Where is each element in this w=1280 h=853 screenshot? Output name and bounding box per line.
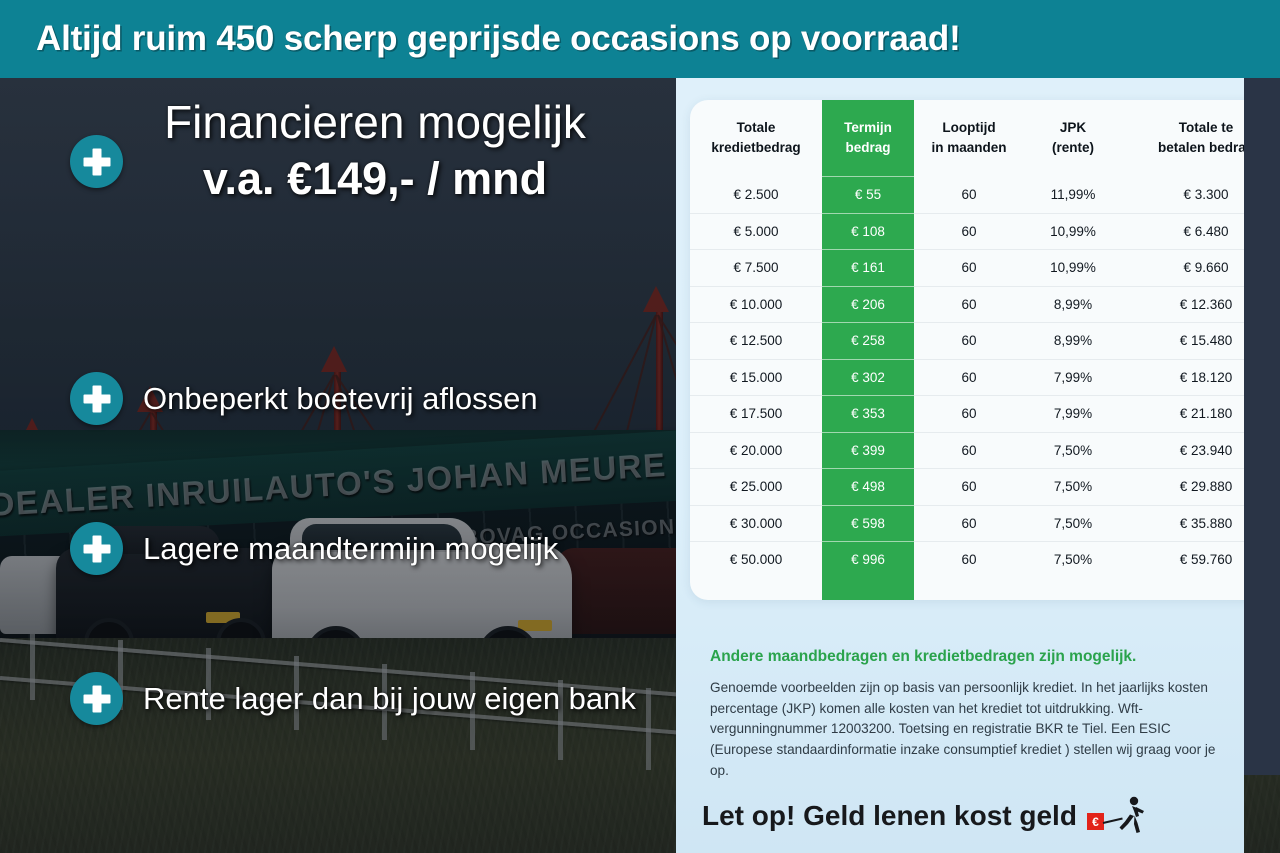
credit-warning-text: Let op! Geld lenen kost geld (702, 800, 1077, 832)
table-row: € 12.500€ 258608,99%€ 15.480 (690, 323, 1244, 360)
cell-looptijd: 60 (914, 432, 1024, 469)
finance-info-panel: Totale kredietbedrag Termijn bedrag Loop… (676, 78, 1244, 853)
top-banner: Altijd ruim 450 scherp geprijsde occasio… (0, 0, 1280, 78)
cell-looptijd: 60 (914, 469, 1024, 506)
cell-krediet: € 7.500 (690, 250, 822, 287)
cell-termijn: € 353 (822, 396, 914, 433)
finance-table-card: Totale kredietbedrag Termijn bedrag Loop… (690, 100, 1244, 600)
cell-termijn: € 206 (822, 286, 914, 323)
afm-money-warning-logo: € (1087, 796, 1145, 836)
cell-looptijd: 60 (914, 505, 1024, 542)
cell-totaal: € 6.480 (1122, 213, 1244, 250)
cell-termijn: € 399 (822, 432, 914, 469)
column-header-line2: in maanden (914, 138, 1024, 158)
cell-termijn: € 108 (822, 213, 914, 250)
cell-jkp: 8,99% (1024, 323, 1122, 360)
finance-table: Totale kredietbedrag Termijn bedrag Loop… (690, 100, 1244, 578)
cell-looptijd: 60 (914, 396, 1024, 433)
cell-krediet: € 2.500 (690, 177, 822, 214)
top-banner-text: Altijd ruim 450 scherp geprijsde occasio… (36, 19, 961, 59)
table-row: € 15.000€ 302607,99%€ 18.120 (690, 359, 1244, 396)
promo-content: Financieren mogelijk v.a. €149,- / mnd O… (0, 78, 690, 853)
cell-looptijd: 60 (914, 213, 1024, 250)
cell-jkp: 7,50% (1024, 505, 1122, 542)
cell-termijn: € 598 (822, 505, 914, 542)
column-header-line1: Termijn (822, 118, 914, 138)
disclaimer-heading: Andere maandbedragen en kredietbedragen … (710, 648, 1230, 666)
cell-krediet: € 25.000 (690, 469, 822, 506)
cell-totaal: € 15.480 (1122, 323, 1244, 360)
headline-block: Financieren mogelijk v.a. €149,- / mnd (0, 96, 690, 206)
cell-totaal: € 23.940 (1122, 432, 1244, 469)
cell-termijn: € 996 (822, 542, 914, 578)
cell-termijn: € 55 (822, 177, 914, 214)
column-header-termijn: Termijn bedrag (822, 100, 914, 177)
cell-termijn: € 258 (822, 323, 914, 360)
headline-line-2: v.a. €149,- / mnd (0, 152, 690, 205)
table-row: € 7.500€ 1616010,99%€ 9.660 (690, 250, 1244, 287)
cell-jkp: 7,50% (1024, 432, 1122, 469)
cell-jkp: 11,99% (1024, 177, 1122, 214)
cell-jkp: 7,99% (1024, 359, 1122, 396)
cell-krediet: € 5.000 (690, 213, 822, 250)
column-header-looptijd: Looptijd in maanden (914, 100, 1024, 177)
promo-bullet-label: Rente lager dan bij jouw eigen bank (143, 681, 636, 717)
column-header-line2: kredietbedrag (690, 138, 822, 158)
cell-totaal: € 3.300 (1122, 177, 1244, 214)
cell-termijn: € 161 (822, 250, 914, 287)
cell-looptijd: 60 (914, 359, 1024, 396)
cell-totaal: € 59.760 (1122, 542, 1244, 578)
cell-jkp: 7,50% (1024, 542, 1122, 578)
column-header-line1: Totale (690, 118, 822, 138)
cell-jkp: 7,50% (1024, 469, 1122, 506)
table-row: € 20.000€ 399607,50%€ 23.940 (690, 432, 1244, 469)
cell-looptijd: 60 (914, 286, 1024, 323)
cell-looptijd: 60 (914, 542, 1024, 578)
cell-krediet: € 30.000 (690, 505, 822, 542)
cell-termijn: € 302 (822, 359, 914, 396)
table-row: € 25.000€ 498607,50%€ 29.880 (690, 469, 1244, 506)
table-row: € 2.500€ 556011,99%€ 3.300 (690, 177, 1244, 214)
column-header-line2: betalen bedrag (1122, 138, 1244, 158)
cell-krediet: € 15.000 (690, 359, 822, 396)
cell-termijn: € 498 (822, 469, 914, 506)
disclaimer-block: Andere maandbedragen en kredietbedragen … (710, 648, 1230, 781)
column-header-krediet: Totale kredietbedrag (690, 100, 822, 177)
afm-euro-box: € (1087, 813, 1104, 830)
cell-krediet: € 10.000 (690, 286, 822, 323)
cell-krediet: € 20.000 (690, 432, 822, 469)
panel-right-edge (1244, 0, 1280, 775)
cell-totaal: € 12.360 (1122, 286, 1244, 323)
plus-icon (70, 372, 123, 425)
column-header-line2: bedrag (822, 138, 914, 158)
column-header-line1: Looptijd (914, 118, 1024, 138)
table-row: € 30.000€ 598607,50%€ 35.880 (690, 505, 1244, 542)
credit-warning: Let op! Geld lenen kost geld € (702, 796, 1145, 836)
column-header-line1: Totale te (1122, 118, 1244, 138)
column-header-line2: (rente) (1024, 138, 1122, 158)
column-header-line1: JPK (1024, 118, 1122, 138)
promo-bullet-3: Rente lager dan bij jouw eigen bank (70, 672, 636, 725)
cell-krediet: € 12.500 (690, 323, 822, 360)
cell-looptijd: 60 (914, 250, 1024, 287)
cell-krediet: € 50.000 (690, 542, 822, 578)
table-row: € 50.000€ 996607,50%€ 59.760 (690, 542, 1244, 578)
table-row: € 17.500€ 353607,99%€ 21.180 (690, 396, 1244, 433)
cell-totaal: € 18.120 (1122, 359, 1244, 396)
promo-bullet-label: Onbeperkt boetevrij aflossen (143, 381, 538, 417)
cell-jkp: 7,99% (1024, 396, 1122, 433)
cell-jkp: 10,99% (1024, 250, 1122, 287)
table-header-row: Totale kredietbedrag Termijn bedrag Loop… (690, 100, 1244, 177)
disclaimer-body: Genoemde voorbeelden zijn op basis van p… (710, 678, 1230, 781)
table-row: € 5.000€ 1086010,99%€ 6.480 (690, 213, 1244, 250)
cell-looptijd: 60 (914, 177, 1024, 214)
cell-jkp: 10,99% (1024, 213, 1122, 250)
cell-totaal: € 21.180 (1122, 396, 1244, 433)
walking-person-icon (1115, 796, 1145, 836)
cell-totaal: € 9.660 (1122, 250, 1244, 287)
advertisement-banner: DEALER INRUILAUTO'S JOHAN MEURE ALTIJD 4… (0, 0, 1280, 853)
promo-bullet-1: Onbeperkt boetevrij aflossen (70, 372, 538, 425)
cell-jkp: 8,99% (1024, 286, 1122, 323)
promo-bullet-label: Lagere maandtermijn mogelijk (143, 531, 558, 567)
column-header-jkp: JPK (rente) (1024, 100, 1122, 177)
cell-looptijd: 60 (914, 323, 1024, 360)
plus-icon (70, 522, 123, 575)
headline-line-1: Financieren mogelijk (0, 96, 690, 148)
finance-table-body: € 2.500€ 556011,99%€ 3.300 € 5.000€ 1086… (690, 177, 1244, 578)
cell-totaal: € 29.880 (1122, 469, 1244, 506)
cell-totaal: € 35.880 (1122, 505, 1244, 542)
column-header-totaal: Totale te betalen bedrag (1122, 100, 1244, 177)
table-row: € 10.000€ 206608,99%€ 12.360 (690, 286, 1244, 323)
promo-bullet-2: Lagere maandtermijn mogelijk (70, 522, 558, 575)
plus-icon (70, 672, 123, 725)
cell-krediet: € 17.500 (690, 396, 822, 433)
